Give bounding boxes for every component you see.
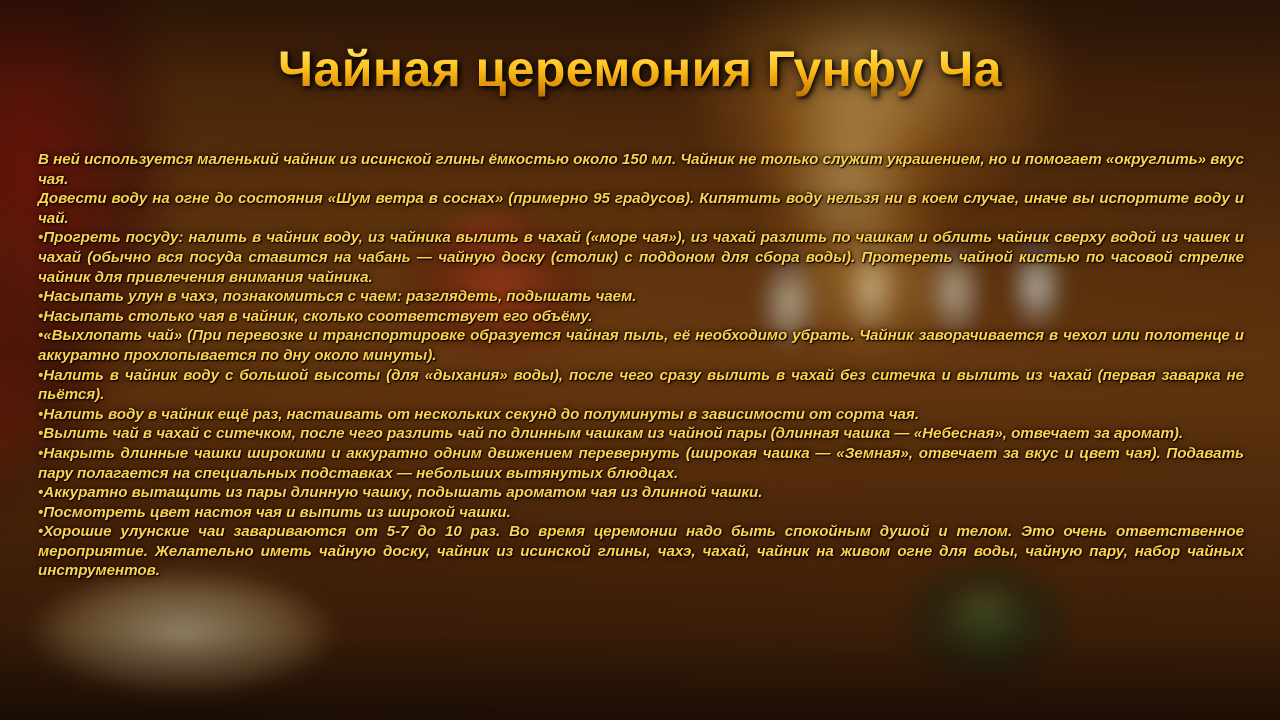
body-text: Вылить чай в чахай с ситечком, после чег… — [43, 425, 1183, 442]
body-text: Аккуратно вытащить из пары длинную чашку… — [43, 484, 762, 501]
body-bullet-item: •Насыпать столько чая в чайник, сколько … — [38, 307, 1244, 327]
body-text: Налить воду в чайник ещё раз, настаивать… — [43, 406, 919, 423]
body-text: Прогреть посуду: налить в чайник воду, и… — [38, 229, 1244, 285]
body-bullet-item: •Вылить чай в чахай с ситечком, после че… — [38, 424, 1244, 444]
body-text-block: В ней используется маленький чайник из и… — [38, 150, 1244, 581]
body-text: В ней используется маленький чайник из и… — [38, 151, 1244, 188]
body-text: Насыпать улун в чахэ, познакомиться с ча… — [43, 288, 636, 305]
body-paragraph: В ней используется маленький чайник из и… — [38, 150, 1244, 189]
body-text: Накрыть длинные чашки широкими и аккурат… — [38, 445, 1244, 482]
body-bullet-item: •Налить воду в чайник ещё раз, настаиват… — [38, 405, 1244, 425]
body-text: Посмотреть цвет настоя чая и выпить из ш… — [43, 504, 511, 521]
body-bullet-item: •Прогреть посуду: налить в чайник воду, … — [38, 228, 1244, 287]
body-bullet-item: •Насыпать улун в чахэ, познакомиться с ч… — [38, 287, 1244, 307]
body-text: Хорошие улунские чаи завариваются от 5-7… — [38, 523, 1244, 579]
body-bullet-item: •Накрыть длинные чашки широкими и аккура… — [38, 444, 1244, 483]
body-bullet-item: •Налить в чайник воду с большой высоты (… — [38, 366, 1244, 405]
body-bullet-item: •Аккуратно вытащить из пары длинную чашк… — [38, 483, 1244, 503]
body-bullet-item: •«Выхлопать чай» (При перевозке и трансп… — [38, 326, 1244, 365]
body-text: Довести воду на огне до состояния «Шум в… — [38, 190, 1244, 227]
body-paragraph: Довести воду на огне до состояния «Шум в… — [38, 189, 1244, 228]
body-text: Насыпать столько чая в чайник, сколько с… — [43, 308, 592, 325]
body-bullet-item: •Посмотреть цвет настоя чая и выпить из … — [38, 503, 1244, 523]
body-text: «Выхлопать чай» (При перевозке и транспо… — [38, 327, 1244, 364]
body-bullet-item: •Хорошие улунские чаи завариваются от 5-… — [38, 522, 1244, 581]
body-text: Налить в чайник воду с большой высоты (д… — [38, 367, 1244, 404]
presentation-slide: Чайная церемония Гунфу Ча В ней использу… — [0, 0, 1280, 720]
